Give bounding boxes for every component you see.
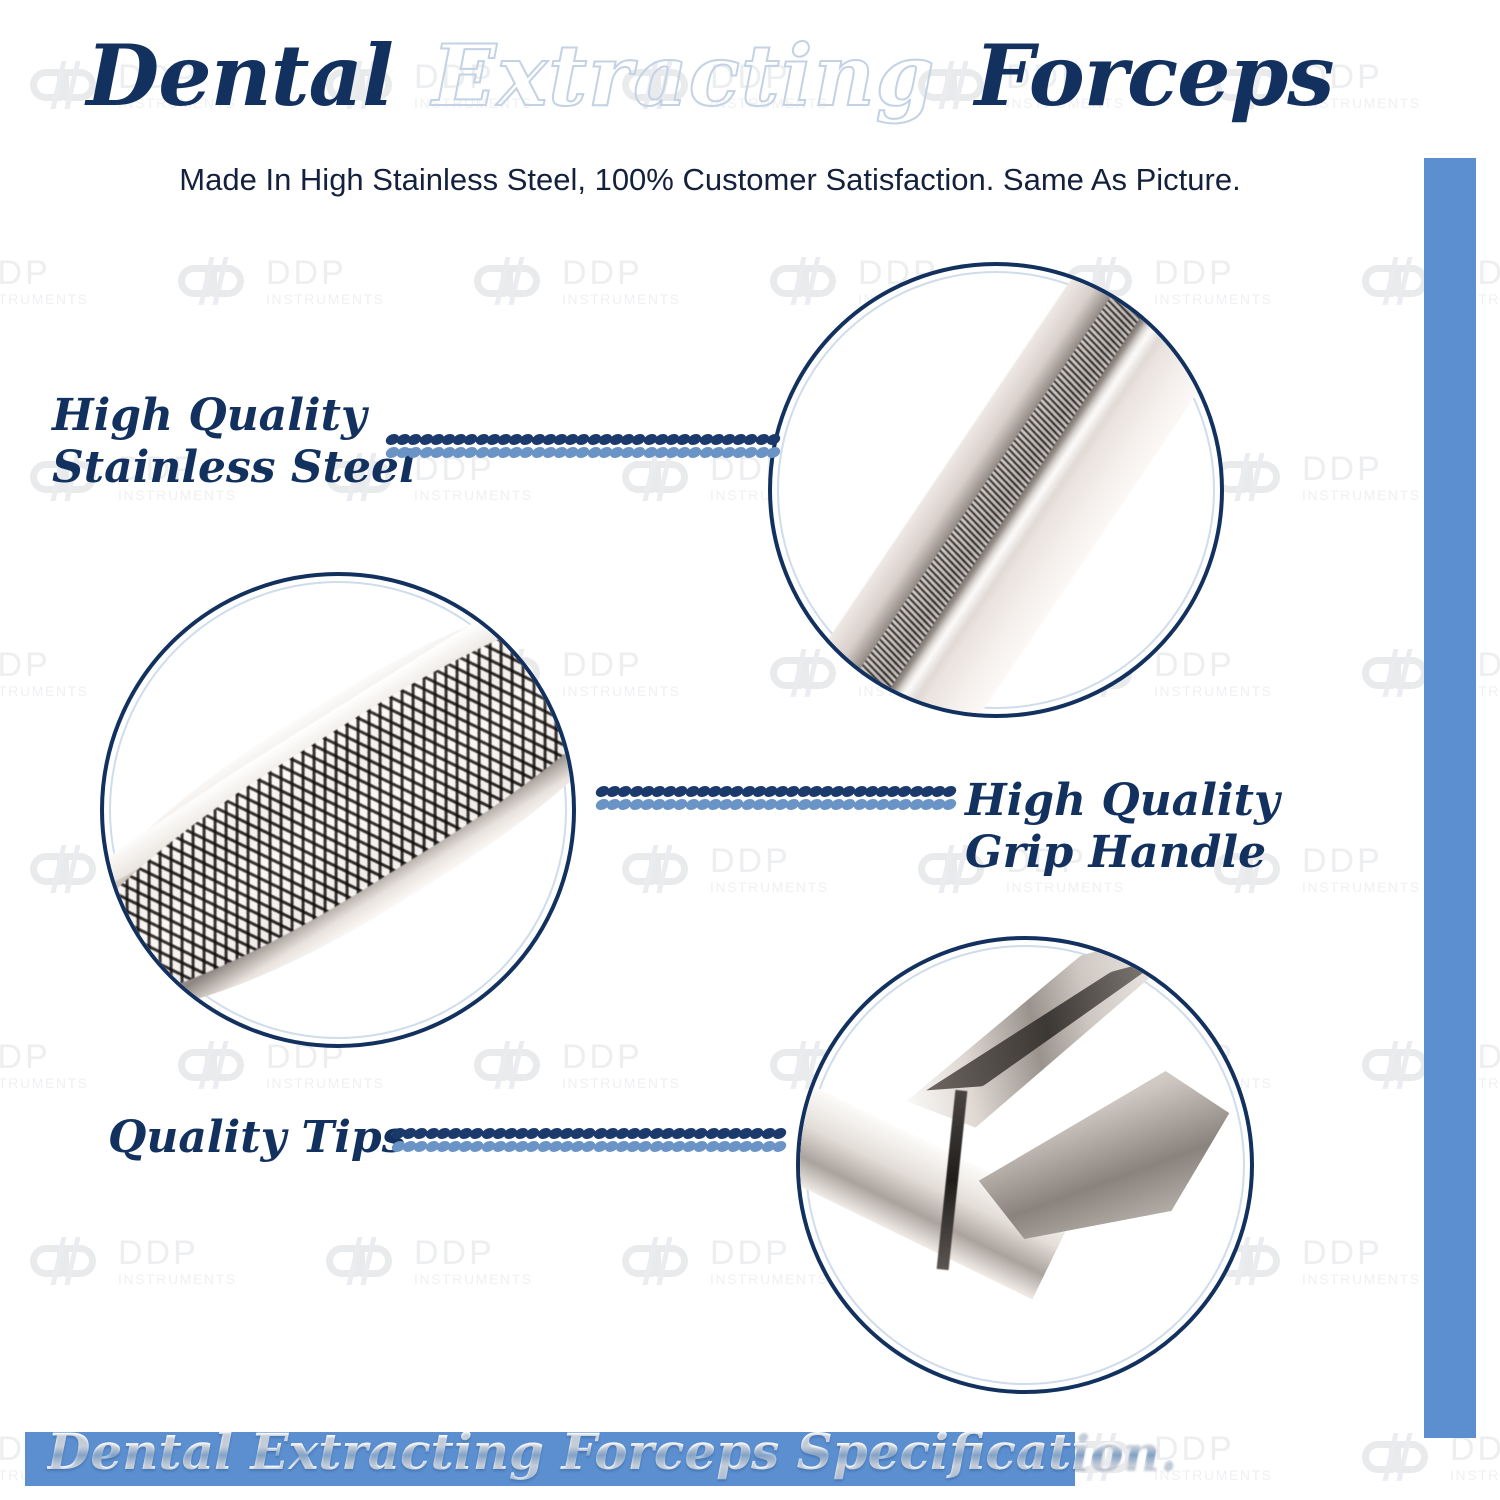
page-subtitle: Made In High Stainless Steel, 100% Custo… <box>0 162 1420 198</box>
photo-circle-tips <box>796 936 1254 1394</box>
photo-circle-shaft <box>768 262 1224 718</box>
connector-dots-quality-tips <box>392 1128 784 1154</box>
connector-row-light <box>392 1141 784 1152</box>
connector-row-light <box>386 447 786 458</box>
callout-line-2: Grip Handle <box>965 827 1280 879</box>
photo-circle-grip <box>100 572 576 1048</box>
shaft-photo <box>772 266 1220 714</box>
callout-line-1: Quality Tips <box>108 1112 406 1164</box>
connector-row-light <box>596 799 956 810</box>
specification-banner-text: Dental Extracting Forceps Specification. <box>47 1422 1177 1481</box>
callout-label-quality-tips: Quality Tips <box>108 1112 406 1164</box>
content-layer: Dental Extracting Forceps Made In High S… <box>0 0 1500 1500</box>
connector-row-dark <box>386 434 786 445</box>
callout-label-stainless-steel: High Quality Stainless Steel <box>52 390 416 494</box>
connector-dots-grip-handle <box>596 786 956 812</box>
product-infographic: DDPINSTRUMENTSDDPINSTRUMENTSDDPINSTRUMEN… <box>0 0 1500 1500</box>
callout-line-1: High Quality <box>52 390 416 442</box>
connector-dots-stainless-steel <box>386 434 786 460</box>
title-word-extracting: Extracting <box>432 26 935 125</box>
specification-banner: Dental Extracting Forceps Specification. <box>25 1432 1075 1486</box>
title-word-dental: Dental <box>86 26 393 125</box>
title-word-forceps: Forceps <box>975 26 1334 125</box>
callout-label-grip-handle: High Quality Grip Handle <box>965 775 1280 879</box>
connector-row-dark <box>596 786 956 797</box>
callout-line-2: Stainless Steel <box>52 442 416 494</box>
grip-photo <box>104 576 572 1044</box>
right-accent-bar <box>1424 158 1476 1438</box>
page-title: Dental Extracting Forceps <box>0 34 1420 118</box>
callout-line-1: High Quality <box>965 775 1280 827</box>
tips-photo <box>800 940 1250 1390</box>
connector-row-dark <box>392 1128 784 1139</box>
